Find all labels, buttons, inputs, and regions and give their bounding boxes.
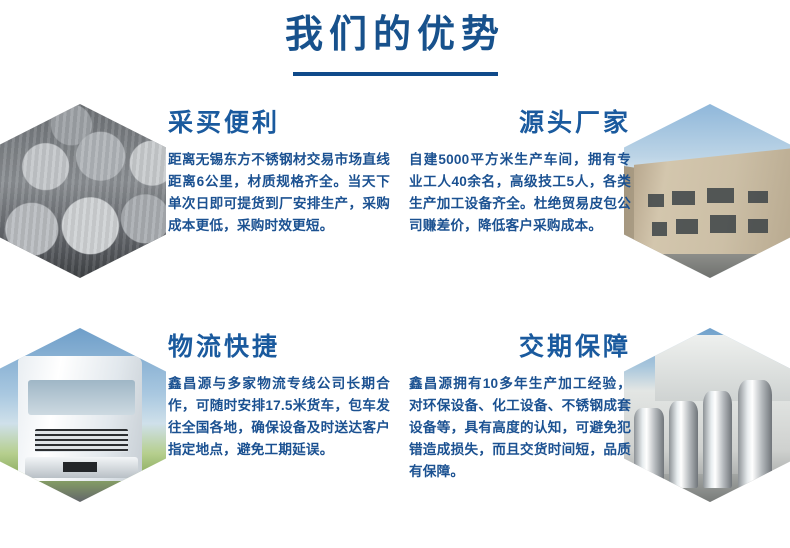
factory-window — [676, 219, 698, 235]
truck-windshield — [28, 380, 135, 415]
factory-window — [748, 191, 769, 203]
steel-coils-photo — [0, 104, 166, 278]
advantage-card-delivery-guarantee: 交期保障 鑫昌源拥有10多年生产加工经验，对环保设备、化工设备、不锈钢成套设备等… — [395, 312, 790, 536]
truck-license-plate — [63, 462, 97, 472]
advantage-text-fast-logistics: 物流快捷 鑫昌源与多家物流专线公司长期合作，可随时安排17.5米货车，包车发往全… — [168, 334, 390, 461]
advantage-body: 鑫昌源与多家物流专线公司长期合作，可随时安排17.5米货车，包车发往全国各地，确… — [168, 373, 390, 461]
page-title: 我们的优势 — [0, 14, 790, 58]
advantage-text-delivery-guarantee: 交期保障 鑫昌源拥有10多年生产加工经验，对环保设备、化工设备、不锈钢成套设备等… — [409, 334, 631, 483]
factory-window — [707, 188, 735, 204]
factory-window — [672, 191, 694, 205]
delivery-truck-photo — [0, 328, 166, 502]
advantage-card-fast-logistics: 物流快捷 鑫昌源与多家物流专线公司长期合作，可随时安排17.5米货车，包车发往全… — [0, 312, 395, 536]
advantage-heading: 物流快捷 — [168, 334, 390, 362]
factory-window — [710, 215, 736, 232]
advantage-body: 鑫昌源拥有10多年生产加工经验，对环保设备、化工设备、不锈钢成套设备等，具有高度… — [409, 373, 631, 483]
stainless-tank — [738, 380, 772, 488]
factory-window — [748, 219, 769, 233]
stainless-tanks-photo — [624, 328, 790, 502]
stainless-tanks-image — [624, 328, 790, 502]
steel-coils-image — [0, 104, 166, 278]
advantage-text-purchase-convenience: 采买便利 距离无锡东方不锈钢材交易市场直线距离6公里，材质规格齐全。当天下单次日… — [168, 110, 390, 237]
advantage-body: 距离无锡东方不锈钢材交易市场直线距离6公里，材质规格齐全。当天下单次日即可提货到… — [168, 149, 390, 237]
stainless-tank — [634, 408, 663, 488]
advantage-body: 自建5000平方米生产车间，拥有专业工人40余名，高级技工5人，各类生产加工设备… — [409, 149, 631, 237]
factory-ground — [624, 254, 790, 278]
advantage-text-source-manufacturer: 源头厂家 自建5000平方米生产车间，拥有专业工人40余名，高级技工5人，各类生… — [409, 110, 631, 237]
page-header: 我们的优势 — [0, 14, 790, 76]
advantage-heading: 交期保障 — [409, 334, 631, 362]
factory-building-image — [624, 104, 790, 278]
truck-grill — [35, 429, 128, 452]
title-underline — [293, 72, 498, 76]
advantage-card-purchase-convenience: 采买便利 距离无锡东方不锈钢材交易市场直线距离6公里，材质规格齐全。当天下单次日… — [0, 88, 395, 312]
advantage-heading: 源头厂家 — [409, 110, 631, 138]
factory-window — [652, 222, 667, 236]
stainless-tank — [703, 391, 732, 488]
factory-window — [648, 194, 663, 206]
advantage-card-source-manufacturer: 源头厂家 自建5000平方米生产车间，拥有专业工人40余名，高级技工5人，各类生… — [395, 88, 790, 312]
factory-building-photo — [624, 104, 790, 278]
stainless-tank — [669, 401, 698, 488]
advantage-heading: 采买便利 — [168, 110, 390, 138]
delivery-truck-image — [0, 328, 166, 502]
